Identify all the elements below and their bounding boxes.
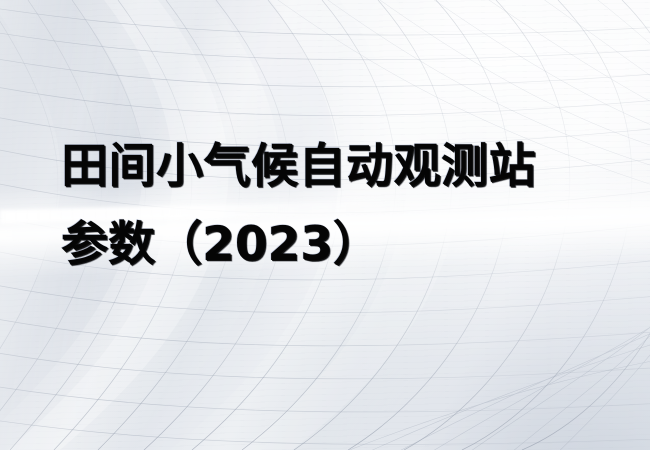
slide-title-block: 田间小气候自动观测站 参数（2023） — [61, 128, 621, 284]
title-slide: 田间小气候自动观测站 参数（2023） — [0, 0, 650, 450]
slide-title-line-1: 田间小气候自动观测站 — [61, 128, 621, 206]
slide-title-line-2: 参数（2023） — [61, 206, 621, 284]
